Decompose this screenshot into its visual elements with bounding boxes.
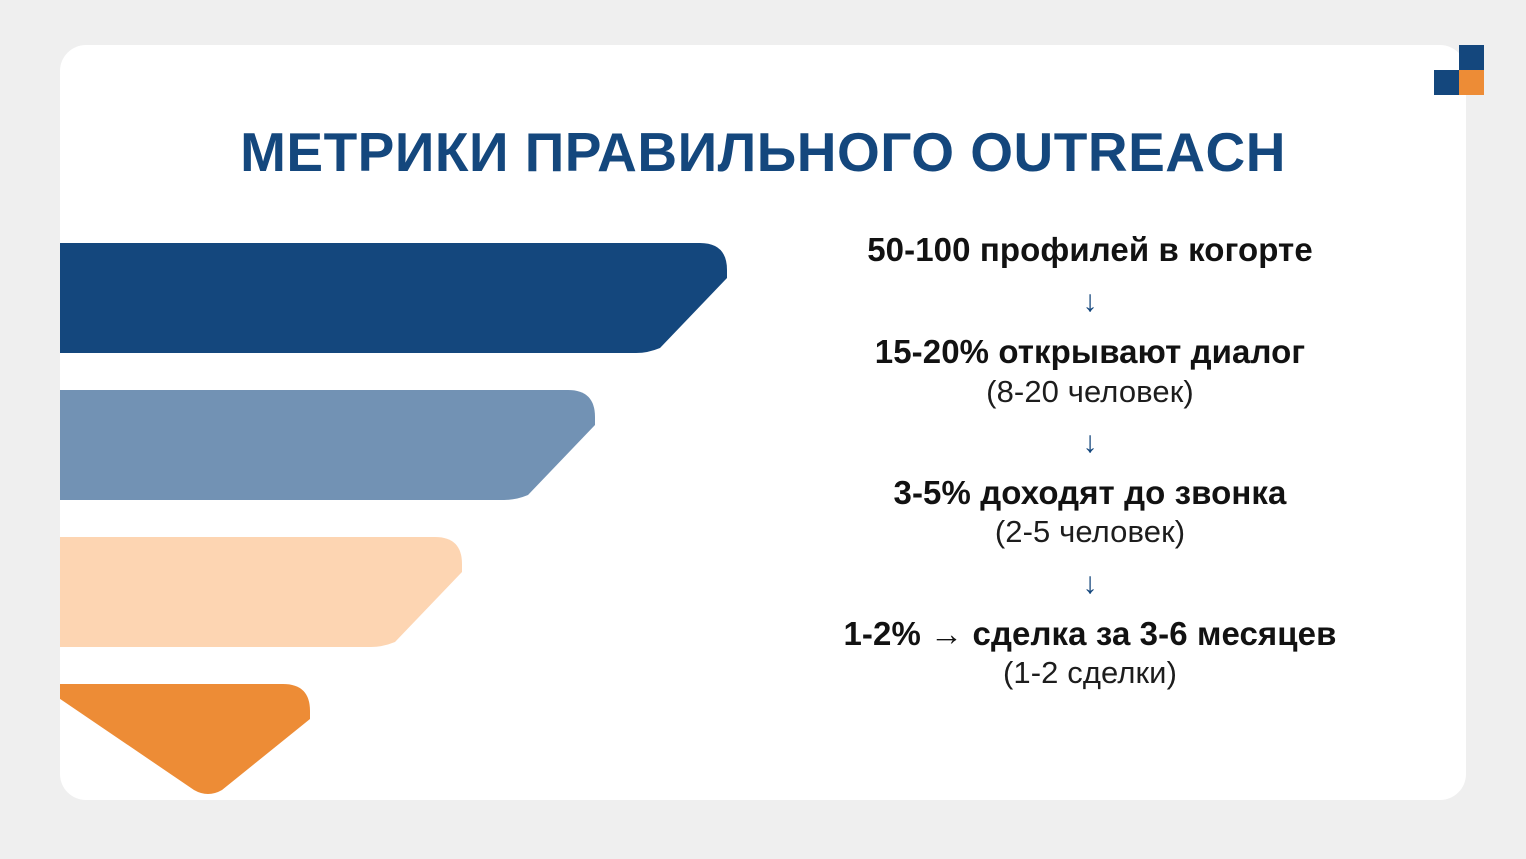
arrow-down-icon-2: ↓ [760,411,1420,473]
logo-square-bottom-right [1459,70,1484,95]
logo-square-bottom-left [1434,70,1459,95]
flow-step-2-main: 15-20% открывают диалог [760,332,1420,372]
page-title: МЕТРИКИ ПРАВИЛЬНОГО OUTREACH [60,120,1466,184]
arrow-down-icon-3: ↓ [760,552,1420,614]
funnel-segment-4 [60,658,310,794]
flow-step-2-sub: (8-20 человек) [760,373,1420,411]
slide-root: МЕТРИКИ ПРАВИЛЬНОГО OUTREACH 50-100 проф… [0,0,1526,859]
flow-step-3: 3-5% доходят до звонка (2-5 человек) [760,473,1420,552]
brand-logo-icon [1434,45,1484,95]
flow-step-1: 50-100 профилей в когорте [760,230,1420,270]
flow-step-3-sub: (2-5 человек) [760,513,1420,551]
flow-step-4-main: 1-2% → сделка за 3-6 месяцев [760,614,1420,654]
logo-square-top-right [1459,45,1484,70]
funnel-chart [60,198,760,798]
flow-step-4: 1-2% → сделка за 3-6 месяцев (1-2 сделки… [760,614,1420,693]
flow-step-4-sub: (1-2 сделки) [760,654,1420,692]
flow-step-2: 15-20% открывают диалог (8-20 человек) [760,332,1420,411]
flow-step-3-main: 3-5% доходят до звонка [760,473,1420,513]
flow-step-1-main: 50-100 профилей в когорте [760,230,1420,270]
content-card: МЕТРИКИ ПРАВИЛЬНОГО OUTREACH 50-100 проф… [60,45,1466,800]
funnel-segment-3 [60,537,462,647]
funnel-segment-1 [60,243,727,353]
metrics-flow: 50-100 профилей в когорте ↓ 15-20% откры… [760,230,1420,692]
funnel-segment-2 [60,390,595,500]
arrow-down-icon-1: ↓ [760,270,1420,332]
